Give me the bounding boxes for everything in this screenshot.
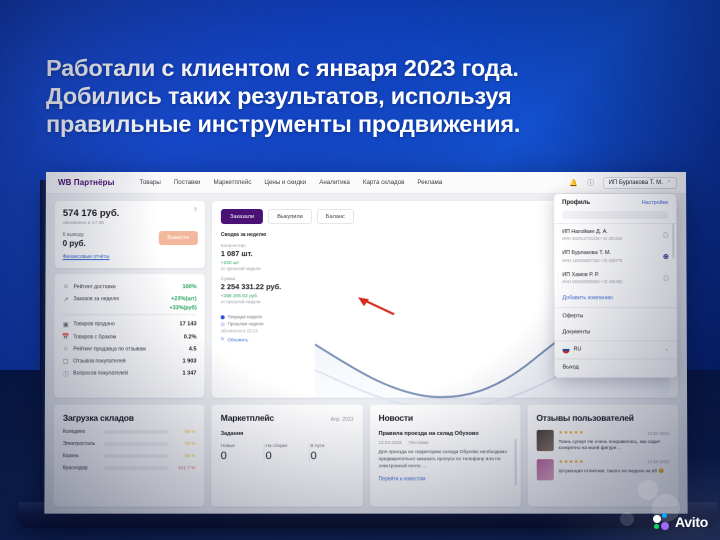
avito-watermark: Avito <box>653 513 708 530</box>
avito-logo-icon <box>653 513 670 530</box>
poster-stage: Работали с клиентом с января 2023 года. … <box>0 0 720 540</box>
decor-circle <box>638 480 658 500</box>
avito-wordmark: Avito <box>675 514 708 530</box>
decor-circle <box>620 512 634 526</box>
